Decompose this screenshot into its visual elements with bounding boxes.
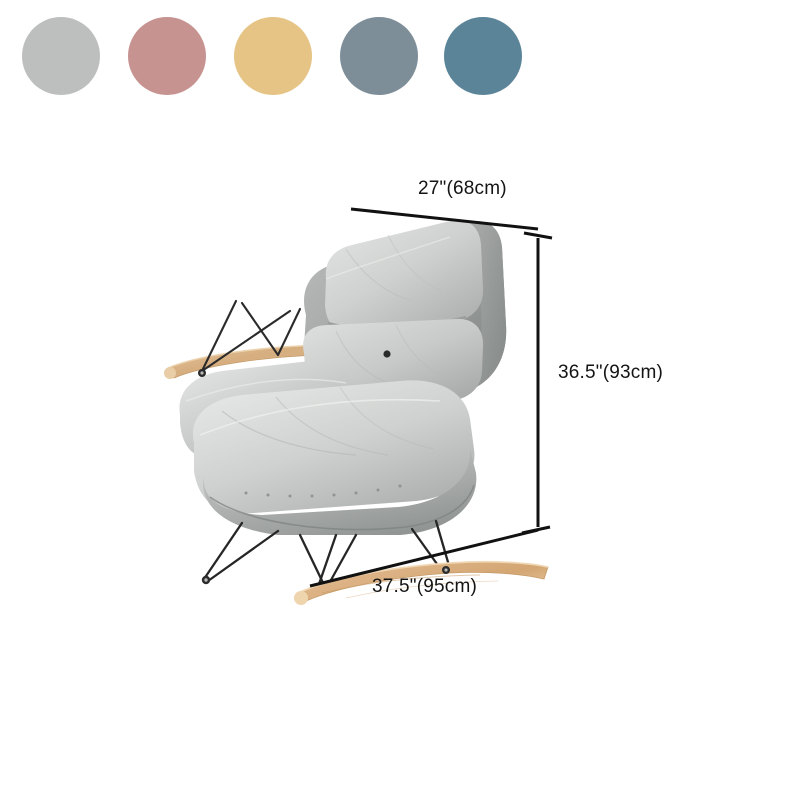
swatch-dusty-rose[interactable] xyxy=(128,17,206,95)
swatch-light-gray[interactable] xyxy=(22,17,100,95)
rocking-chair-illustration xyxy=(150,205,570,605)
swatch-teal-blue[interactable] xyxy=(444,17,522,95)
seat-cushion xyxy=(193,380,474,513)
dimension-label-depth: 37.5"(95cm) xyxy=(372,576,477,598)
swatch-slate-gray[interactable] xyxy=(340,17,418,95)
swatch-sand-yellow[interactable] xyxy=(234,17,312,95)
back-cushion-upper xyxy=(325,220,483,333)
color-swatch-strip xyxy=(0,0,560,110)
dimension-label-height: 36.5"(93cm) xyxy=(558,362,663,384)
dimension-label-width: 27"(68cm) xyxy=(418,178,507,200)
